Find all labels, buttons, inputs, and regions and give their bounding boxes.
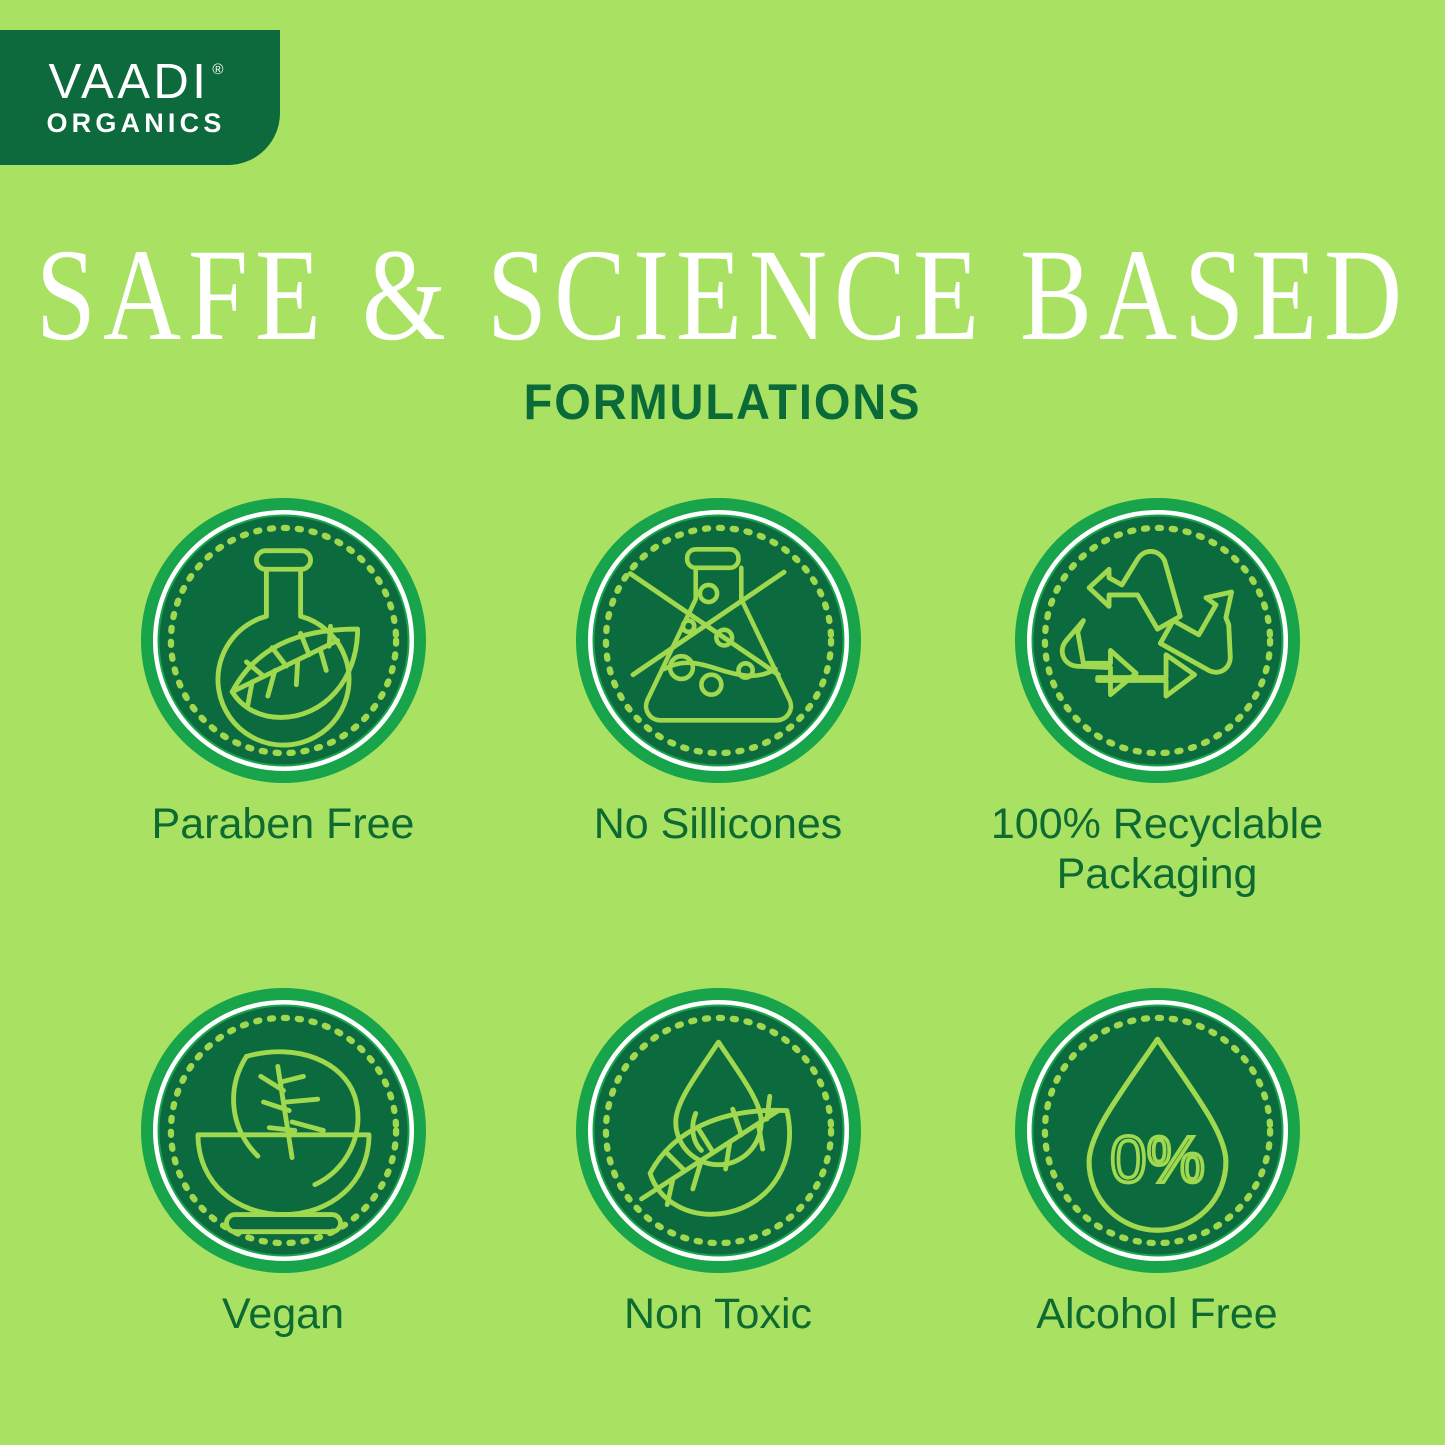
mortar-bowl-with-leaf-icon [141, 988, 426, 1273]
badge-recyclable-packaging [1015, 498, 1300, 783]
badge-cell-vegan: Vegan [93, 988, 473, 1339]
badge-vegan [141, 988, 426, 1273]
badge-label-paraben-free: Paraben Free [93, 799, 473, 849]
badge-non-toxic [576, 988, 861, 1273]
badge-label-non-toxic: Non Toxic [528, 1289, 908, 1339]
flask-with-leaf-icon [141, 498, 426, 783]
badge-label-no-sillicones: No Sillicones [528, 799, 908, 849]
recycle-icon [1015, 498, 1300, 783]
crossed-out-erlenmeyer-flask-icon [576, 498, 861, 783]
droplet-on-leaf-icon [576, 988, 861, 1273]
badge-cell-non-toxic: Non Toxic [528, 988, 908, 1339]
badge-alcohol-free: 0% [1015, 988, 1300, 1273]
badge-label-recyclable-packaging: 100% Recyclable Packaging [967, 799, 1347, 899]
badge-grid: Paraben Free [0, 0, 1445, 1445]
droplet-zero-percent-icon: 0% [1015, 988, 1300, 1273]
badge-cell-recyclable-packaging: 100% Recyclable Packaging [967, 498, 1347, 899]
badge-paraben-free [141, 498, 426, 783]
zero-percent-label: 0% [1110, 1123, 1205, 1196]
badge-no-sillicones [576, 498, 861, 783]
badge-label-vegan: Vegan [93, 1289, 473, 1339]
badge-label-alcohol-free: Alcohol Free [967, 1289, 1347, 1339]
badge-cell-no-sillicones: No Sillicones [528, 498, 908, 849]
infographic-canvas: VAADI ® ORGANICS SAFE & SCIENCE BASED FO… [0, 0, 1445, 1445]
badge-cell-alcohol-free: 0% Alcohol Free [967, 988, 1347, 1339]
badge-cell-paraben-free: Paraben Free [93, 498, 473, 849]
